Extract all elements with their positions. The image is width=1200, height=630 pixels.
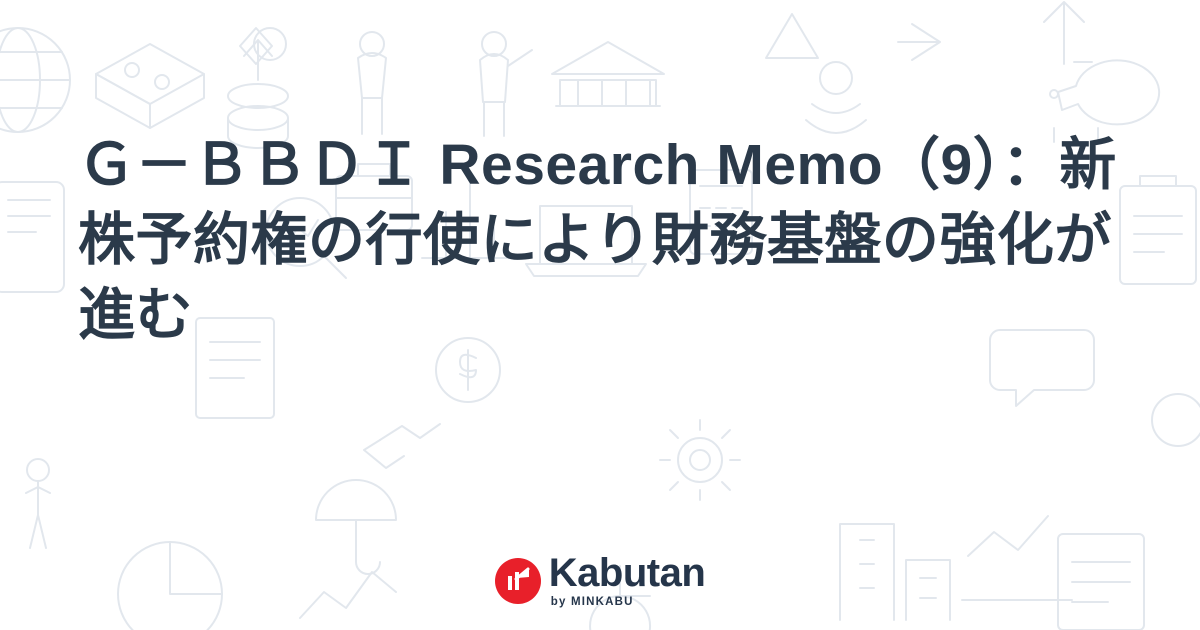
social-share-card: Ｇ－ＢＢＤＩ Research Memo（9）：新株予約権の行使により財務基盤の… (0, 0, 1200, 630)
logo-wordmark: Kabutan (549, 553, 706, 593)
page-title: Ｇ－ＢＢＤＩ Research Memo（9）：新株予約権の行使により財務基盤の… (78, 128, 1138, 354)
title-block: Ｇ－ＢＢＤＩ Research Memo（9）：新株予約権の行使により財務基盤の… (78, 128, 1138, 354)
site-logo[interactable]: Kabutan by MINKABU (0, 553, 1200, 609)
upward-arrow-chart-icon (495, 558, 541, 604)
logo-tagline: by MINKABU (551, 597, 634, 609)
